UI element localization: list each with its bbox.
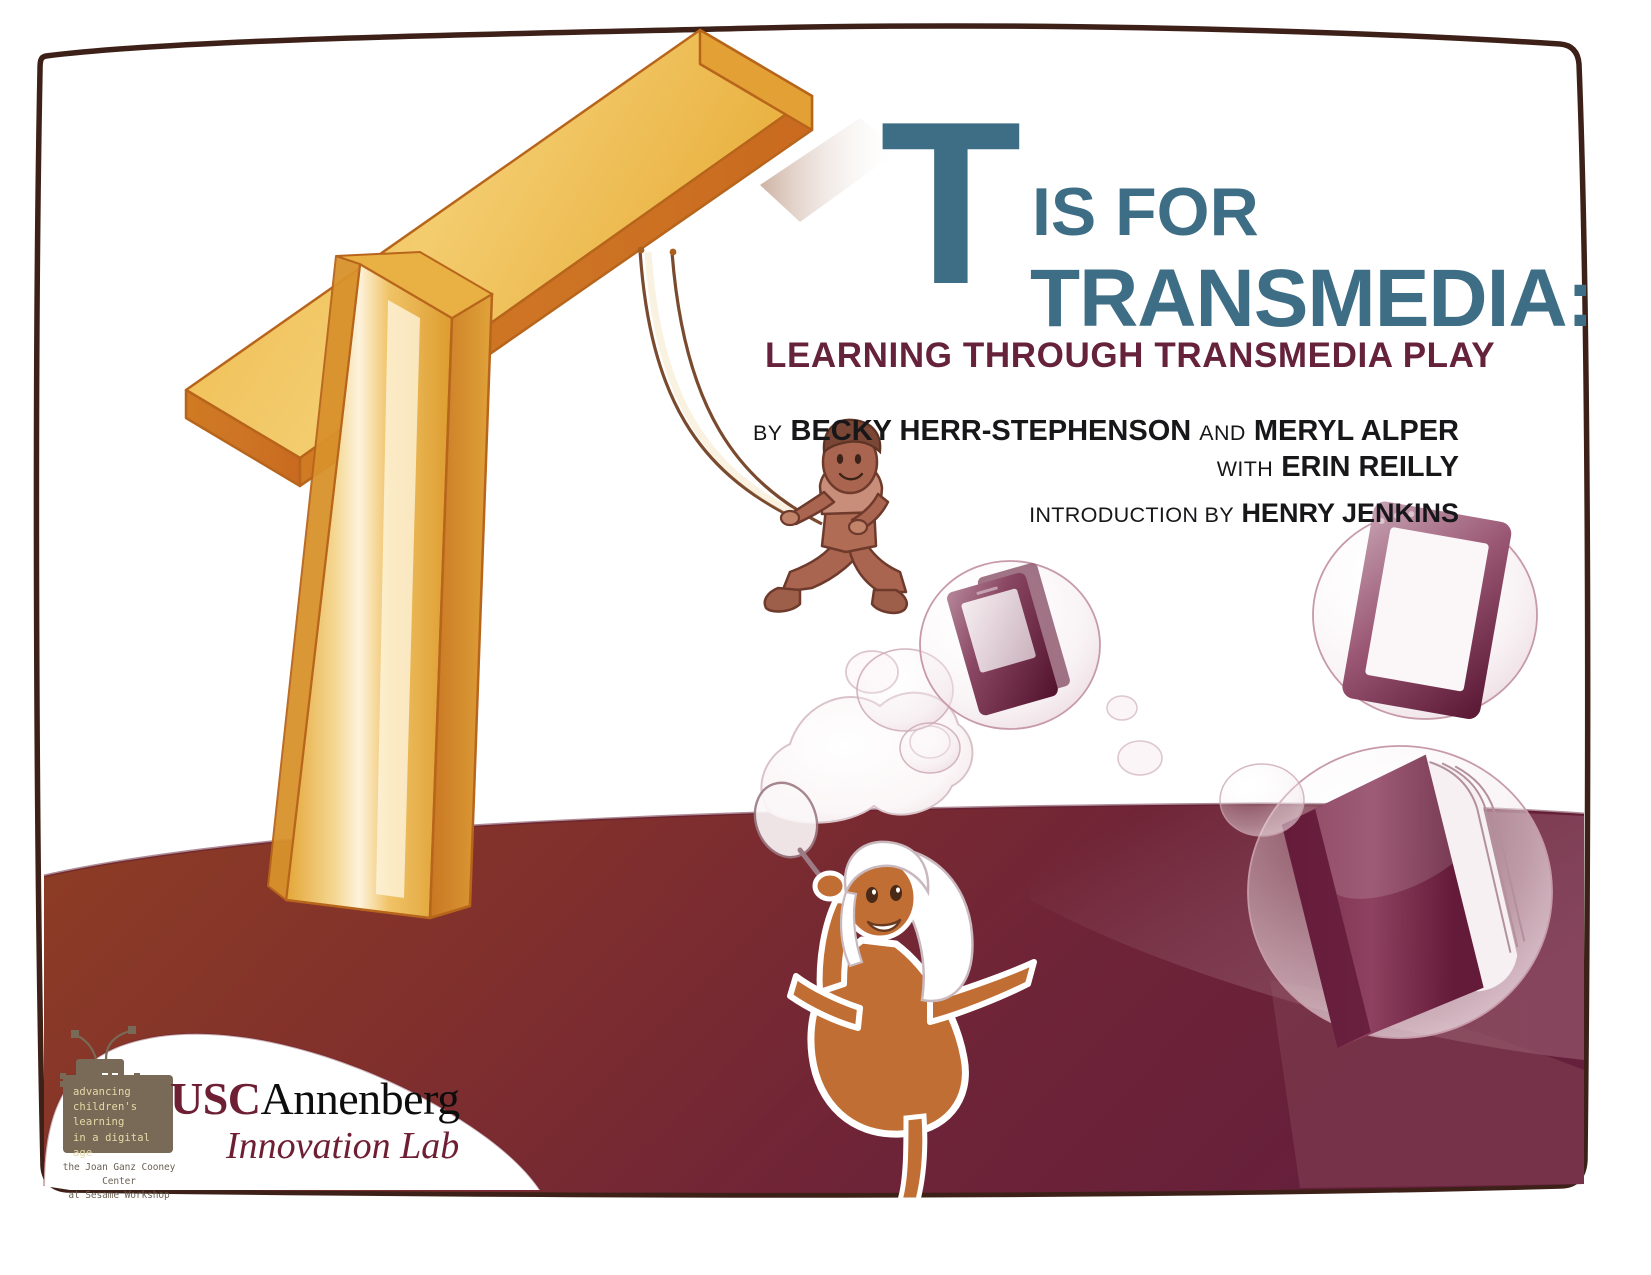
credit-line-authors: BY BECKY HERR-STEPHENSON AND MERYL ALPER [753, 414, 1459, 448]
cooney-caption-line-2: at Sesame Workshop [44, 1189, 194, 1203]
bubble-with-smartphone [920, 561, 1100, 729]
credit-author-four: HENRY JENKINS [1241, 498, 1459, 528]
empty-bubble-small-2 [900, 723, 960, 773]
credit-with-label: WITH [1217, 457, 1273, 481]
usc-annenberg-wordmark: USCAnnenberg [170, 1076, 460, 1122]
usc-mark: USC [170, 1073, 261, 1124]
title-is-for: IS FOR [1032, 178, 1259, 246]
annenberg-word: Annenberg [261, 1073, 460, 1124]
cooney-tagline-line-3: in a digital age [73, 1131, 169, 1161]
credit-introduction-label: INTRODUCTION BY [1029, 502, 1234, 527]
credit-author-two: MERYL ALPER [1254, 415, 1459, 447]
title-transmedia: TRANSMEDIA: [1030, 258, 1593, 340]
credit-and-label: AND [1199, 421, 1246, 445]
cooney-tagline-line-2: children's learning [73, 1100, 169, 1130]
cooney-tagline-box: advancing children's learning in a digit… [63, 1075, 173, 1153]
credits-block: BY BECKY HERR-STEPHENSON AND MERYL ALPER… [753, 414, 1459, 530]
subtitle: LEARNING THROUGH TRANSMEDIA PLAY [765, 336, 1495, 376]
credit-line-with: WITH ERIN REILLY [753, 450, 1459, 484]
empty-bubble-small-3 [1220, 764, 1304, 836]
innovation-lab-label: Innovation Lab [226, 1124, 460, 1168]
credit-line-introduction: INTRODUCTION BY HENRY JENKINS [753, 498, 1459, 530]
cooney-tagline-line-1: advancing [73, 1085, 169, 1100]
title-drop-cap-t: T [880, 88, 1012, 320]
credit-by-label: BY [753, 421, 782, 445]
credit-author-one: BECKY HERR-STEPHENSON [791, 415, 1192, 447]
credit-author-three: ERIN REILLY [1281, 451, 1459, 483]
bubble-with-tablet [1313, 500, 1537, 721]
book-cover-page: T IS FOR TRANSMEDIA: LEARNING THROUGH TR… [0, 0, 1651, 1275]
usc-annenberg-logo: USCAnnenberg Innovation Lab [170, 1076, 460, 1168]
cooney-tagline: advancing children's learning in a digit… [73, 1085, 169, 1161]
